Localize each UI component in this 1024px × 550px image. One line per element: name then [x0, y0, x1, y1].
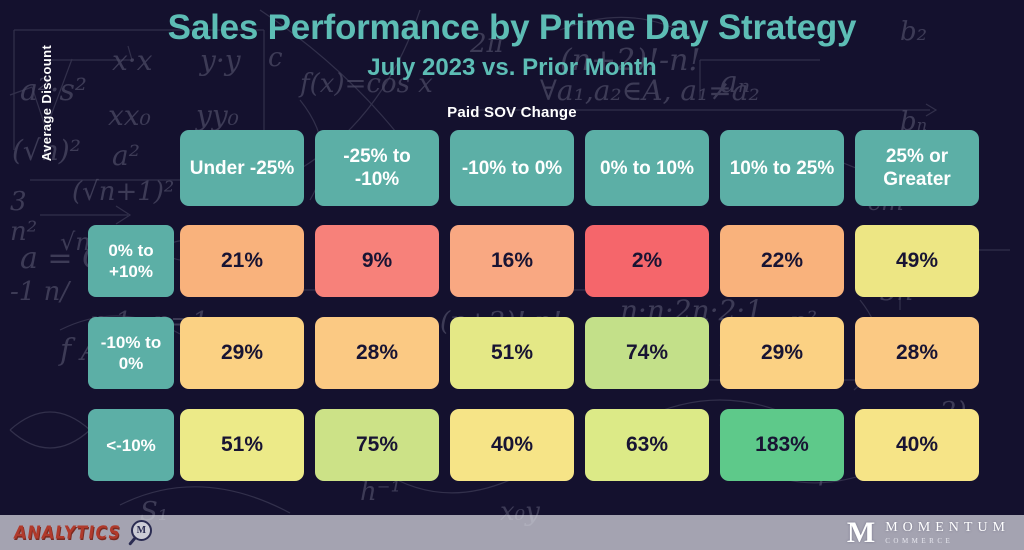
column-header-1: -25% to -10% — [315, 130, 439, 206]
cell-r2-c4: 183% — [720, 409, 844, 481]
cell-r0-c2: 16% — [450, 225, 574, 297]
column-header-0: Under -25% — [180, 130, 304, 206]
column-header-2: -10% to 0% — [450, 130, 574, 206]
momentum-logo-mark: M — [847, 518, 875, 548]
cell-r0-c5: 49% — [855, 225, 979, 297]
cell-r1-c4: 29% — [720, 317, 844, 389]
row-header-1: -10% to 0% — [88, 317, 174, 389]
infographic-canvas: a²·s² x·x y·y c f(x)=cos x a = OP xx₀ yy… — [0, 0, 1024, 550]
column-axis-label: Paid SOV Change — [0, 104, 1024, 121]
page-subtitle: July 2023 vs. Prior Month — [0, 53, 1024, 83]
analytics-brand: ANALYTICS M — [14, 520, 154, 546]
heatmap-row: <-10% 51% 75% 40% 63% 183% 40% — [88, 409, 979, 481]
row-header-0: 0% to +10% — [88, 225, 174, 297]
cell-r2-c0: 51% — [180, 409, 304, 481]
cell-r0-c0: 21% — [180, 225, 304, 297]
svg-text:h⁻¹: h⁻¹ — [360, 477, 401, 507]
cell-r0-c3: 2% — [585, 225, 709, 297]
cell-r0-c1: 9% — [315, 225, 439, 297]
momentum-brand: M MOMENTUM COMMERCE — [847, 518, 1010, 548]
cell-r1-c0: 29% — [180, 317, 304, 389]
svg-text:n²: n² — [10, 217, 37, 247]
footer-bar: ANALYTICS M M MOMENTUM COMMERCE — [0, 515, 1024, 550]
column-header-row: Under -25% -25% to -10% -10% to 0% 0% to… — [88, 130, 979, 206]
momentum-wordmark: MOMENTUM — [885, 520, 1010, 536]
cell-r1-c2: 51% — [450, 317, 574, 389]
cell-r0-c4: 22% — [720, 225, 844, 297]
heatmap-matrix: Under -25% -25% to -10% -10% to 0% 0% to… — [88, 130, 979, 481]
svg-text:3: 3 — [10, 187, 27, 217]
cell-r1-c3: 74% — [585, 317, 709, 389]
cell-r1-c1: 28% — [315, 317, 439, 389]
column-header-3: 0% to 10% — [585, 130, 709, 206]
row-axis-label: Average Discount — [34, 0, 60, 218]
corner-spacer — [88, 130, 174, 206]
cell-r2-c1: 75% — [315, 409, 439, 481]
analytics-wordmark: ANALYTICS — [13, 522, 123, 543]
heatmap-row: -10% to 0% 29% 28% 51% 74% 29% 28% — [88, 317, 979, 389]
magnifier-icon: M — [128, 520, 154, 546]
momentum-wordmark-sub: COMMERCE — [885, 536, 1010, 546]
cell-r2-c3: 63% — [585, 409, 709, 481]
cell-r1-c5: 28% — [855, 317, 979, 389]
title-block: Sales Performance by Prime Day Strategy … — [0, 6, 1024, 83]
column-header-5: 25% or Greater — [855, 130, 979, 206]
cell-r2-c2: 40% — [450, 409, 574, 481]
row-header-2: <-10% — [88, 409, 174, 481]
column-header-4: 10% to 25% — [720, 130, 844, 206]
page-title: Sales Performance by Prime Day Strategy — [0, 6, 1024, 50]
cell-r2-c5: 40% — [855, 409, 979, 481]
momentum-wordmark-block: MOMENTUM COMMERCE — [885, 520, 1010, 546]
svg-text:-1 n/: -1 n/ — [10, 277, 71, 307]
magnifier-handle — [128, 536, 137, 546]
heatmap-row: 0% to +10% 21% 9% 16% 2% 22% 49% — [88, 225, 979, 297]
